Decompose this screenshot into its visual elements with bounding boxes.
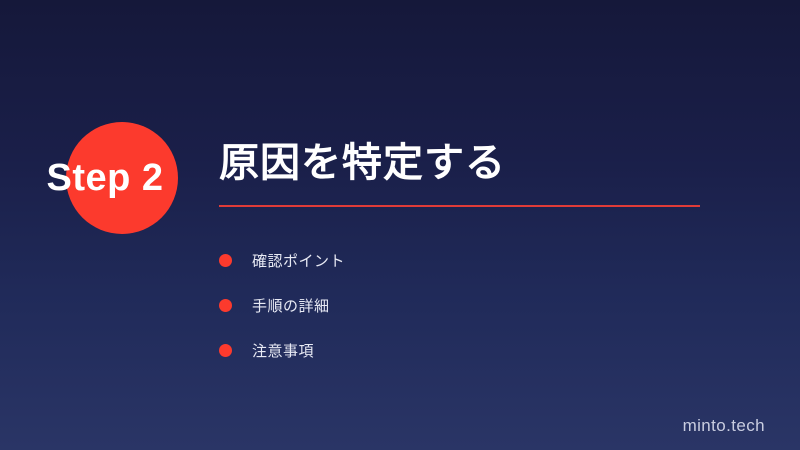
- step-badge: Step 2: [0, 110, 210, 245]
- slide-canvas: Step 2 原因を特定する 確認ポイント 手順の詳細 注意事項 minto.t…: [0, 0, 800, 450]
- title-block: 原因を特定する: [219, 140, 719, 207]
- bullet-dot-icon: [219, 299, 232, 312]
- bullet-label: 手順の詳細: [252, 295, 330, 316]
- title-divider: [219, 205, 700, 207]
- list-item: 注意事項: [219, 328, 669, 373]
- step-badge-label: Step 2: [0, 122, 210, 234]
- bullet-label: 注意事項: [252, 340, 314, 361]
- bullet-list: 確認ポイント 手順の詳細 注意事項: [219, 238, 669, 373]
- list-item: 手順の詳細: [219, 283, 669, 328]
- footer-watermark: minto.tech: [683, 416, 765, 436]
- bullet-dot-icon: [219, 344, 232, 357]
- bullet-dot-icon: [219, 254, 232, 267]
- bullet-label: 確認ポイント: [252, 250, 345, 271]
- list-item: 確認ポイント: [219, 238, 669, 283]
- slide-title: 原因を特定する: [219, 140, 719, 187]
